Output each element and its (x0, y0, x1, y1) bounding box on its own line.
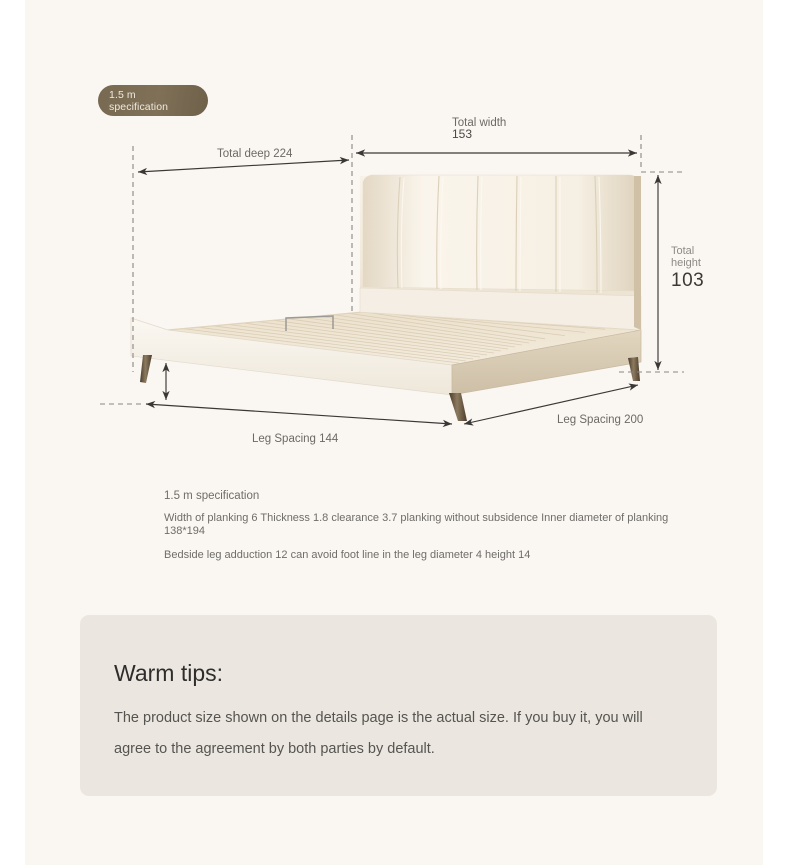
headboard-right-edge (634, 176, 641, 330)
spec-badge: 1.5 m specification (98, 85, 208, 116)
headboard (360, 175, 641, 330)
warm-tips-body: The product size shown on the details pa… (114, 703, 679, 765)
label-total-width-value: 153 (452, 130, 506, 139)
label-total-height-value: 103 (671, 275, 704, 287)
bed-illustration (131, 175, 641, 421)
spec-line-bedside-leg: Bedside leg adduction 12 can avoid foot … (164, 549, 684, 562)
page-root: Total deep 224 Total width 153 Total hei… (0, 0, 790, 865)
label-leg-spacing-side: Leg Spacing 200 (557, 414, 643, 426)
warm-tips-card: Warm tips: The product size shown on the… (80, 615, 717, 796)
bed-leg-front-center (449, 393, 467, 421)
arrow-leg-spacing-144 (146, 404, 452, 424)
label-leg-spacing-front: Leg Spacing 144 (252, 433, 338, 445)
spec-line-title: 1.5 m specification (164, 490, 684, 502)
spec-line-planking: Width of planking 6 Thickness 1.8 cleara… (164, 512, 684, 538)
bed-dimension-diagram: Total deep 224 Total width 153 Total hei… (0, 0, 790, 480)
arrow-total-deep (138, 160, 349, 172)
warm-tips-title: Warm tips: (114, 660, 223, 687)
label-total-deep: Total deep 224 (217, 148, 292, 160)
label-total-width: Total width 153 (452, 118, 506, 139)
label-total-height: Total height 103 (671, 245, 704, 287)
specification-text-block: 1.5 m specification Width of planking 6 … (164, 490, 684, 562)
bed-leg-front-left (140, 355, 152, 383)
headboard-channels (363, 175, 639, 293)
bed-leg-right-rear (628, 357, 640, 381)
label-total-height-title: Total height (671, 245, 704, 269)
